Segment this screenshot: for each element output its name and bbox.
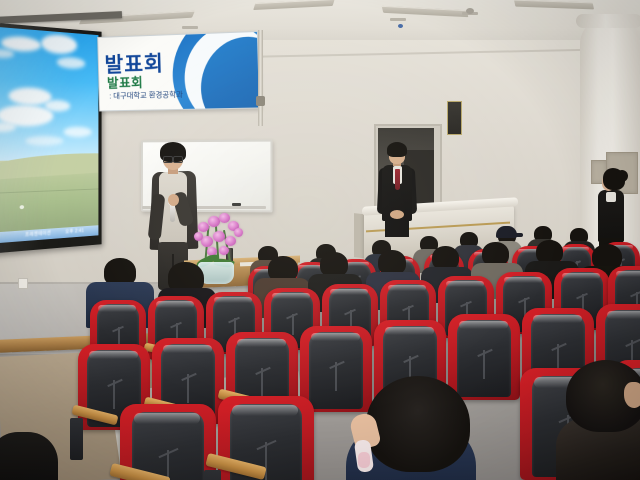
projected-sky — [0, 26, 98, 163]
seat-arm-post — [204, 470, 221, 480]
auditorium-seat[interactable] — [120, 404, 216, 480]
suit-hands — [390, 210, 404, 219]
ceiling-vent — [182, 26, 198, 29]
foreground-person-hair — [366, 376, 470, 472]
held-object-detail — [358, 452, 370, 468]
ceiling-light-fixture — [253, 0, 335, 10]
wall-speaker — [447, 101, 462, 135]
ceiling-light-fixture — [382, 6, 469, 17]
wall-outlet — [18, 278, 28, 289]
auditorium-seat[interactable] — [218, 396, 314, 480]
orchid-bloom — [194, 232, 203, 241]
seat-arm-post — [70, 418, 83, 460]
orchid-bloom — [219, 213, 230, 223]
foreground-person-face — [624, 382, 640, 408]
suit-hair — [387, 142, 407, 157]
taskbar-clock: 오후 2:41 — [65, 227, 84, 235]
orchid-bloom — [234, 228, 243, 237]
ceiling-vent — [390, 18, 406, 21]
orchid-bloom — [198, 222, 209, 232]
presenter-hand — [168, 194, 179, 206]
banner-pole — [258, 30, 263, 126]
orchid-bloom — [213, 231, 225, 242]
cap-brim — [512, 233, 523, 237]
woman-collar — [606, 192, 616, 202]
auditorium-seat[interactable] — [448, 314, 520, 400]
whiteboard-marker — [232, 203, 241, 206]
taskbar-item-app: 프레젠테이션 — [25, 229, 51, 238]
suit-legs — [385, 219, 409, 237]
event-banner: 발표회 발표회 : 대구대학교 환경공학과 — [97, 31, 260, 112]
support-column-cap — [576, 14, 640, 28]
orchid-bloom — [225, 236, 236, 246]
glasses-icon — [163, 156, 183, 161]
banner-clamp — [256, 96, 265, 106]
ceiling-light-fixture — [514, 0, 594, 9]
orchid-bloom — [219, 246, 229, 255]
woman-hair-bun — [616, 170, 628, 182]
banner-subtitle: 발표회 — [107, 72, 144, 92]
standing-man-in-suit — [378, 142, 416, 234]
projection-screen: 시작 프레젠테이션 오후 2:41 — [0, 22, 102, 254]
projected-image: 시작 프레젠테이션 오후 2:41 — [0, 26, 98, 244]
ceiling-sensor — [466, 8, 474, 14]
banner-organization: : 대구대학교 환경공학과 — [109, 89, 183, 102]
necktie — [395, 169, 400, 190]
auditorium-photo: 시작 프레젠테이션 오후 2:41 발표회 발표회 : 대구대학교 환경공학과 — [0, 0, 640, 480]
ceiling-indicator-light — [398, 24, 403, 28]
